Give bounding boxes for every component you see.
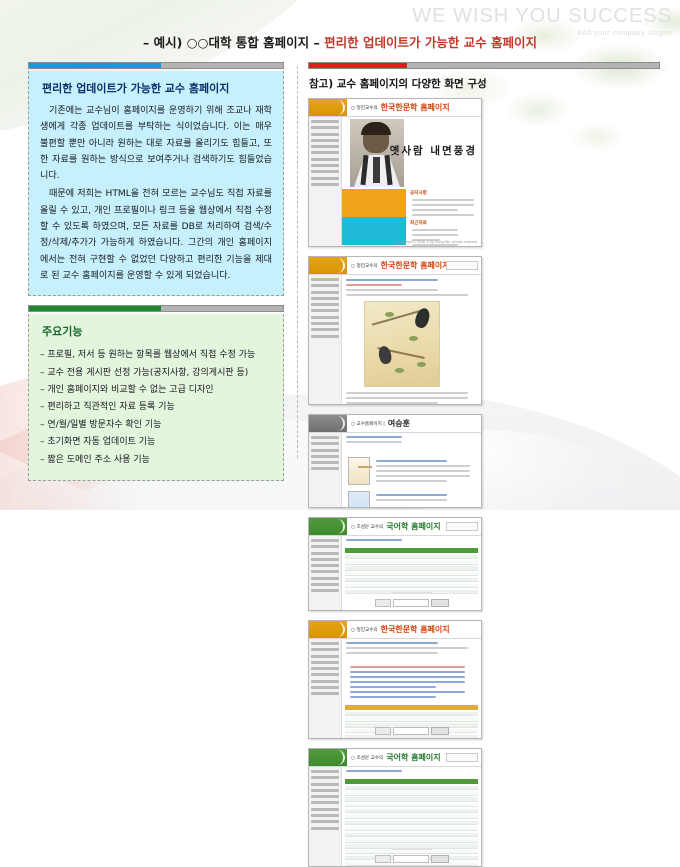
text-line	[346, 441, 402, 443]
table-row[interactable]	[345, 572, 478, 576]
mini-site-prefix: ○ 정민교수의	[351, 105, 378, 111]
table-row[interactable]	[345, 827, 478, 831]
text-line	[350, 681, 465, 683]
list-item: – 교수 전용 게시판 선정 가능(공지사항, 강의게시판 등)	[40, 365, 272, 382]
search-category-select[interactable]	[375, 855, 391, 863]
table-row[interactable]	[345, 809, 478, 813]
table-row[interactable]	[345, 833, 478, 837]
nav-item[interactable]	[311, 133, 339, 136]
search-input[interactable]	[393, 727, 429, 735]
mini-site-prefix: ○ 조성문 교수의	[351, 524, 383, 530]
board-search-bar[interactable]	[375, 599, 449, 607]
watermark-main-text: WE WISH YOU SUCCESS	[412, 6, 672, 26]
table-row[interactable]	[345, 786, 478, 790]
table-row[interactable]	[345, 555, 478, 559]
search-button[interactable]	[431, 727, 449, 735]
thumbnail-korean-classics-article[interactable]: ○ 정민교수의 한국한문학 홈페이지	[308, 256, 482, 405]
table-header-row	[345, 548, 478, 553]
thumbnail-korean-linguistics-board-small[interactable]: ○ 조성문 교수의 국어학 홈페이지	[308, 517, 482, 611]
search-category-select[interactable]	[375, 599, 391, 607]
features-list: – 프로필, 저서 등 원하는 항목를 웹상에서 직접 수정 가능 – 교수 전…	[40, 347, 272, 469]
text-line	[412, 214, 474, 216]
mini-site-prefix: ○ 정민교수의	[351, 627, 378, 633]
nav-item[interactable]	[311, 177, 339, 180]
book-cover-thumbnail	[348, 457, 370, 485]
left-accent-bar-fill	[29, 63, 161, 68]
nav-item[interactable]	[311, 170, 339, 173]
nav-item[interactable]	[311, 692, 339, 695]
nav-item[interactable]	[311, 558, 339, 561]
nav-item[interactable]	[311, 552, 339, 555]
text-line	[346, 402, 438, 404]
intro-paragraph-2: 때문에 저희는 HTML을 전혀 모르는 교수님도 직접 자료를 올릴 수 있고…	[40, 186, 272, 284]
mini-site-brand: 한국한문학 홈페이지	[381, 624, 450, 635]
left-accent-bar-rest	[161, 63, 283, 68]
text-line	[376, 475, 470, 477]
mini-site-header: ○ 정민교수의 한국한문학 홈페이지	[309, 621, 481, 639]
board-table	[345, 779, 478, 866]
text-line	[346, 647, 468, 649]
decor-block-cyan	[342, 217, 406, 245]
right-column: 참고) 교수 홈페이지의 다양한 화면 구성 ○ 정민교수의 한국한문학 홈페이…	[308, 62, 660, 867]
nav-item[interactable]	[311, 284, 339, 287]
text-line	[346, 397, 468, 399]
table-row[interactable]	[345, 797, 478, 801]
nav-item[interactable]	[311, 686, 339, 689]
mini-sidebar-nav[interactable]	[309, 767, 342, 866]
text-line	[412, 199, 474, 201]
mini-site-header: ○ 교수홈페이지 | 여승훈	[309, 415, 481, 433]
table-row[interactable]	[345, 578, 478, 582]
mini-site-brand: 국어학 홈페이지	[386, 752, 440, 763]
breadcrumb	[346, 279, 438, 281]
nav-item[interactable]	[311, 770, 339, 773]
features-accent-bar-fill	[29, 306, 161, 311]
nav-item[interactable]	[311, 820, 339, 823]
nav-item[interactable]	[311, 335, 339, 338]
mini-sidebar-nav[interactable]	[309, 536, 342, 610]
nav-item[interactable]	[311, 545, 339, 548]
table-row[interactable]	[345, 821, 478, 825]
mini-site-header: ○ 조성문 교수의 국어학 홈페이지	[309, 749, 481, 767]
nav-item[interactable]	[311, 789, 339, 792]
nav-item[interactable]	[311, 151, 339, 154]
right-accent-bar-rest	[407, 63, 659, 68]
nav-item[interactable]	[311, 827, 339, 830]
column-divider	[297, 66, 298, 458]
table-row[interactable]	[345, 803, 478, 807]
nav-item[interactable]	[311, 309, 339, 312]
table-row[interactable]	[345, 566, 478, 570]
table-row[interactable]	[345, 735, 478, 738]
search-button[interactable]	[431, 599, 449, 607]
intro-box-title: 편리한 업데이트가 가능한 교수 홈페이지	[42, 80, 272, 96]
text-line	[350, 671, 465, 673]
board-search-bar[interactable]	[375, 855, 449, 863]
text-line	[376, 470, 470, 472]
nav-item[interactable]	[311, 316, 339, 319]
nav-item[interactable]	[311, 436, 339, 439]
table-row[interactable]	[345, 838, 478, 842]
text-line	[412, 234, 458, 236]
table-row[interactable]	[345, 717, 478, 721]
text-line	[376, 460, 447, 462]
painting-leaf	[409, 336, 418, 341]
screenshot-gallery: ○ 정민교수의 한국한문학 홈페이지	[308, 98, 660, 867]
text-line	[350, 666, 465, 668]
list-item: – 편리하고 직관적인 자료 등록 기능	[40, 399, 272, 416]
text-line	[412, 209, 458, 211]
search-category-select[interactable]	[375, 727, 391, 735]
mini-site-brand: 여승훈	[388, 418, 410, 429]
notice-panel-title: 공지사항	[410, 190, 478, 196]
text-line	[346, 294, 468, 296]
site-logo-icon	[309, 257, 347, 274]
text-line	[350, 696, 436, 698]
nav-item[interactable]	[311, 577, 339, 580]
nav-item[interactable]	[311, 795, 339, 798]
text-line	[346, 392, 468, 394]
board-table	[345, 548, 478, 596]
table-row[interactable]	[345, 850, 478, 854]
search-input[interactable]	[446, 753, 478, 762]
features-accent-bar-rest	[161, 306, 283, 311]
text-line	[376, 499, 447, 501]
slide-title: – 예시) ○○대학 통합 홈페이지 – 편리한 업데이트가 가능한 교수 홈페…	[0, 32, 680, 51]
pagination[interactable]	[392, 592, 432, 594]
mini-site-prefix: ○ 조성문 교수의	[351, 755, 383, 761]
nav-item[interactable]	[311, 801, 339, 804]
painting-leaf	[385, 312, 394, 317]
search-input[interactable]	[446, 522, 478, 531]
table-row[interactable]	[345, 712, 478, 716]
slide-title-prefix: – 예시) ○○대학 통합 홈페이지 –	[143, 35, 324, 50]
table-header-row	[345, 705, 478, 710]
mini-sidebar-nav[interactable]	[309, 433, 342, 507]
search-button[interactable]	[431, 855, 449, 863]
features-accent-bar	[28, 305, 284, 312]
list-item: – 짧은 도메인 주소 사용 기능	[40, 452, 272, 469]
nav-item[interactable]	[311, 589, 339, 592]
painting-leaf	[417, 362, 426, 367]
nav-item[interactable]	[311, 126, 339, 129]
text-line	[412, 204, 474, 206]
table-row[interactable]	[345, 560, 478, 564]
nav-item[interactable]	[311, 783, 339, 786]
breadcrumb	[346, 770, 402, 772]
text-line	[346, 289, 438, 291]
pagination[interactable]	[392, 848, 432, 850]
nav-item[interactable]	[311, 808, 339, 811]
book-cover-thumbnail	[348, 491, 370, 507]
nav-item[interactable]	[311, 328, 339, 331]
nav-item[interactable]	[311, 164, 339, 167]
notice-panel: 공지사항	[408, 190, 478, 219]
nav-item[interactable]	[311, 139, 339, 142]
table-row[interactable]	[345, 815, 478, 819]
nav-item[interactable]	[311, 158, 339, 161]
nav-item[interactable]	[311, 642, 339, 645]
list-item: – 연/월/일별 방문자수 확인 기능	[40, 417, 272, 434]
nav-item[interactable]	[311, 583, 339, 586]
search-input[interactable]	[393, 855, 429, 863]
bird-painting-image	[364, 301, 440, 387]
photo-tie	[373, 157, 380, 183]
thumbnail-korean-linguistics-board-large[interactable]: ○ 조성문 교수의 국어학 홈페이지	[308, 748, 482, 867]
breadcrumb	[346, 539, 402, 541]
right-accent-bar-fill	[309, 63, 407, 68]
recent-panel-title: 최근자료	[410, 220, 478, 226]
features-box: 주요기능 – 프로필, 저서 등 원하는 항목를 웹상에서 직접 수정 가능 –…	[28, 314, 284, 481]
nav-item[interactable]	[311, 303, 339, 306]
nav-item[interactable]	[311, 570, 339, 573]
painting-leaf	[395, 368, 404, 373]
breadcrumb	[346, 436, 402, 438]
text-line	[350, 686, 436, 688]
intro-paragraph-1: 기존에는 교수님이 홈페이지를 운영하기 위해 조교나 재학생에게 각종 업데이…	[40, 103, 272, 184]
board-search-bar[interactable]	[375, 727, 449, 735]
nav-item[interactable]	[311, 661, 339, 664]
nav-item[interactable]	[311, 322, 339, 325]
nav-item[interactable]	[311, 467, 339, 470]
mini-site-brand: 한국한문학 홈페이지	[381, 102, 450, 113]
mini-sidebar-nav[interactable]	[309, 117, 342, 246]
thumbnail-korean-classics-board[interactable]: ○ 정민교수의 한국한문학 홈페이지	[308, 620, 482, 739]
left-column: 편리한 업데이트가 가능한 교수 홈페이지 기존에는 교수님이 홈페이지를 운영…	[28, 62, 284, 481]
nav-item[interactable]	[311, 278, 339, 281]
breadcrumb	[346, 642, 438, 644]
right-accent-bar	[308, 62, 660, 69]
mini-site-prefix: ○ 교수홈페이지 |	[351, 421, 385, 427]
thumbnail-professor-books-page[interactable]: ○ 교수홈페이지 | 여승훈	[308, 414, 482, 508]
text-line	[376, 494, 447, 496]
nav-item[interactable]	[311, 442, 339, 445]
screens-section-heading: 참고) 교수 홈페이지의 다양한 화면 구성	[309, 76, 660, 91]
mini-sidebar-nav[interactable]	[309, 639, 342, 738]
site-logo-icon	[309, 749, 347, 766]
text-line	[376, 480, 447, 482]
mini-sidebar-nav[interactable]	[309, 275, 342, 404]
table-row[interactable]	[345, 584, 478, 588]
text-line	[376, 465, 470, 467]
photo-hair	[361, 122, 391, 135]
nav-item[interactable]	[311, 455, 339, 458]
painting-bird	[377, 345, 392, 365]
search-input[interactable]	[393, 599, 429, 607]
text-line	[350, 691, 465, 693]
text-line	[350, 676, 465, 678]
nav-item[interactable]	[311, 680, 339, 683]
search-input[interactable]	[446, 261, 478, 270]
site-logo-icon	[309, 621, 347, 638]
intro-box: 편리한 업데이트가 가능한 교수 홈페이지 기존에는 교수님이 홈페이지를 운영…	[28, 71, 284, 296]
spacer	[28, 296, 284, 305]
nav-item[interactable]	[311, 145, 339, 148]
nav-item[interactable]	[311, 120, 339, 123]
nav-item[interactable]	[311, 539, 339, 542]
nav-item[interactable]	[311, 297, 339, 300]
nav-item[interactable]	[311, 673, 339, 676]
mini-copyright: Copyright © 2006, K by Joung Min. all ri…	[398, 240, 477, 244]
book-spine-line	[358, 466, 372, 468]
thumbnail-korean-classics-main[interactable]: ○ 정민교수의 한국한문학 홈페이지	[308, 98, 482, 247]
list-item: – 개인 홈페이지와 비교할 수 없는 고급 디자인	[40, 382, 272, 399]
features-box-title: 주요기능	[42, 323, 272, 339]
nav-item[interactable]	[311, 183, 339, 186]
nav-item[interactable]	[311, 291, 339, 294]
list-item: – 초기화면 자동 업데이트 기능	[40, 434, 272, 451]
mini-site-header: ○ 조성문 교수의 국어학 홈페이지	[309, 518, 481, 536]
nav-item[interactable]	[311, 814, 339, 817]
text-line	[346, 284, 402, 286]
nav-item[interactable]	[311, 449, 339, 452]
mini-site-header: ○ 정민교수의 한국한문학 홈페이지	[309, 257, 481, 275]
site-logo-icon	[309, 99, 347, 116]
left-accent-bar	[28, 62, 284, 69]
site-logo-icon	[309, 415, 347, 432]
site-logo-icon	[309, 518, 347, 535]
nav-item[interactable]	[311, 655, 339, 658]
mini-site-brand: 한국한문학 홈페이지	[381, 260, 450, 271]
nav-item[interactable]	[311, 667, 339, 670]
mini-site-header: ○ 정민교수의 한국한문학 홈페이지	[309, 99, 481, 117]
text-line	[412, 229, 458, 231]
mini-site-prefix: ○ 정민교수의	[351, 263, 378, 269]
nav-item[interactable]	[311, 461, 339, 464]
list-item: – 프로필, 저서 등 원하는 항목를 웹상에서 직접 수정 가능	[40, 347, 272, 364]
mini-headline: 옛사람 내면풍경	[390, 143, 477, 158]
nav-item[interactable]	[311, 776, 339, 779]
table-header-row	[345, 779, 478, 784]
nav-item[interactable]	[311, 648, 339, 651]
decor-block-orange	[342, 189, 406, 217]
table-row[interactable]	[345, 791, 478, 795]
nav-item[interactable]	[311, 564, 339, 567]
slide-title-highlight: 편리한 업데이트가 가능한 교수 홈페이지	[324, 35, 537, 50]
mini-site-brand: 국어학 홈페이지	[386, 521, 440, 532]
text-line	[346, 652, 438, 654]
